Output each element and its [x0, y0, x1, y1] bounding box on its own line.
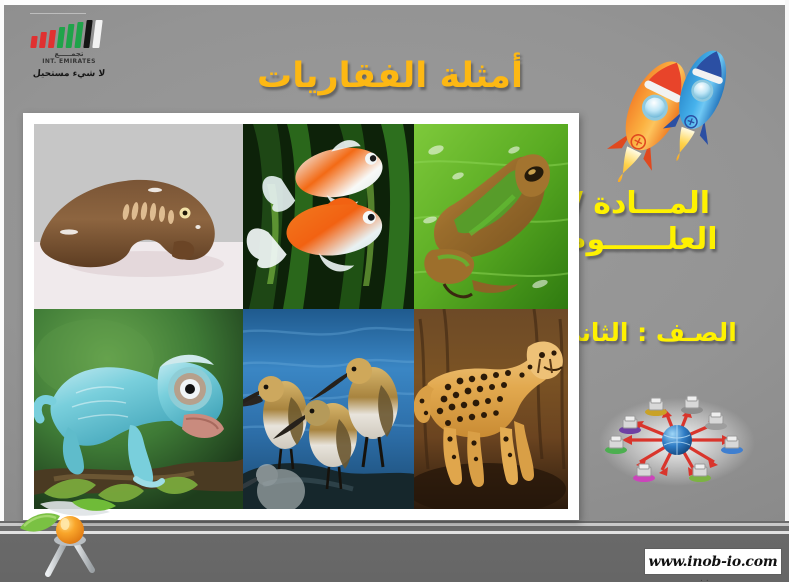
slide-right-border — [785, 0, 789, 582]
easel-stand-illustration — [14, 496, 144, 578]
slide-title: أمثلة الفقاريات — [210, 56, 570, 96]
logo-english-name: INT. EMIRATES — [25, 58, 113, 66]
logo-arabic-name: تجمـــــع — [25, 50, 113, 58]
goldfish-photo — [243, 124, 414, 309]
logo-bar-4 — [66, 24, 75, 48]
logo-bar-7 — [92, 20, 102, 48]
watermark-url: www.inob-io.com — [645, 549, 781, 574]
presentation-slide: تجمـــــع INT. EMIRATES لا شيء مستحيل أم… — [0, 0, 789, 582]
logo-bar-1 — [39, 32, 47, 48]
rockets-illustration — [596, 36, 746, 182]
frog-photo — [414, 124, 568, 309]
logo-rule — [30, 13, 86, 14]
logo-bar-0 — [30, 36, 37, 48]
logo-flag-bars-icon — [31, 20, 105, 48]
logo-bar-6 — [83, 20, 92, 48]
organization-logo: تجمـــــع INT. EMIRATES لا شيء مستحيل — [21, 12, 117, 82]
sandpipers-photo — [243, 309, 414, 509]
slide-left-border — [0, 0, 4, 582]
hagfish-photo — [34, 124, 243, 309]
rockets-svg — [596, 36, 746, 182]
stand-svg — [14, 496, 144, 578]
logo-wordmark: تجمـــــع INT. EMIRATES لا شيء مستحيل — [25, 50, 113, 79]
logo-bar-5 — [74, 22, 83, 48]
subject-line-1: المـــادة / — [572, 186, 710, 221]
network-diagram-illustration — [596, 388, 758, 492]
logo-tagline: لا شيء مستحيل — [25, 69, 114, 79]
slide-top-border — [0, 0, 789, 5]
logo-bar-2 — [48, 30, 56, 48]
photo-collage-grid — [34, 124, 568, 509]
network-svg — [596, 388, 758, 492]
cheetah-photo — [414, 309, 568, 509]
watermark-dots: .. — [700, 574, 712, 582]
logo-bar-3 — [57, 27, 66, 48]
chameleon-photo — [34, 309, 243, 509]
photo-collage-frame — [23, 113, 579, 520]
